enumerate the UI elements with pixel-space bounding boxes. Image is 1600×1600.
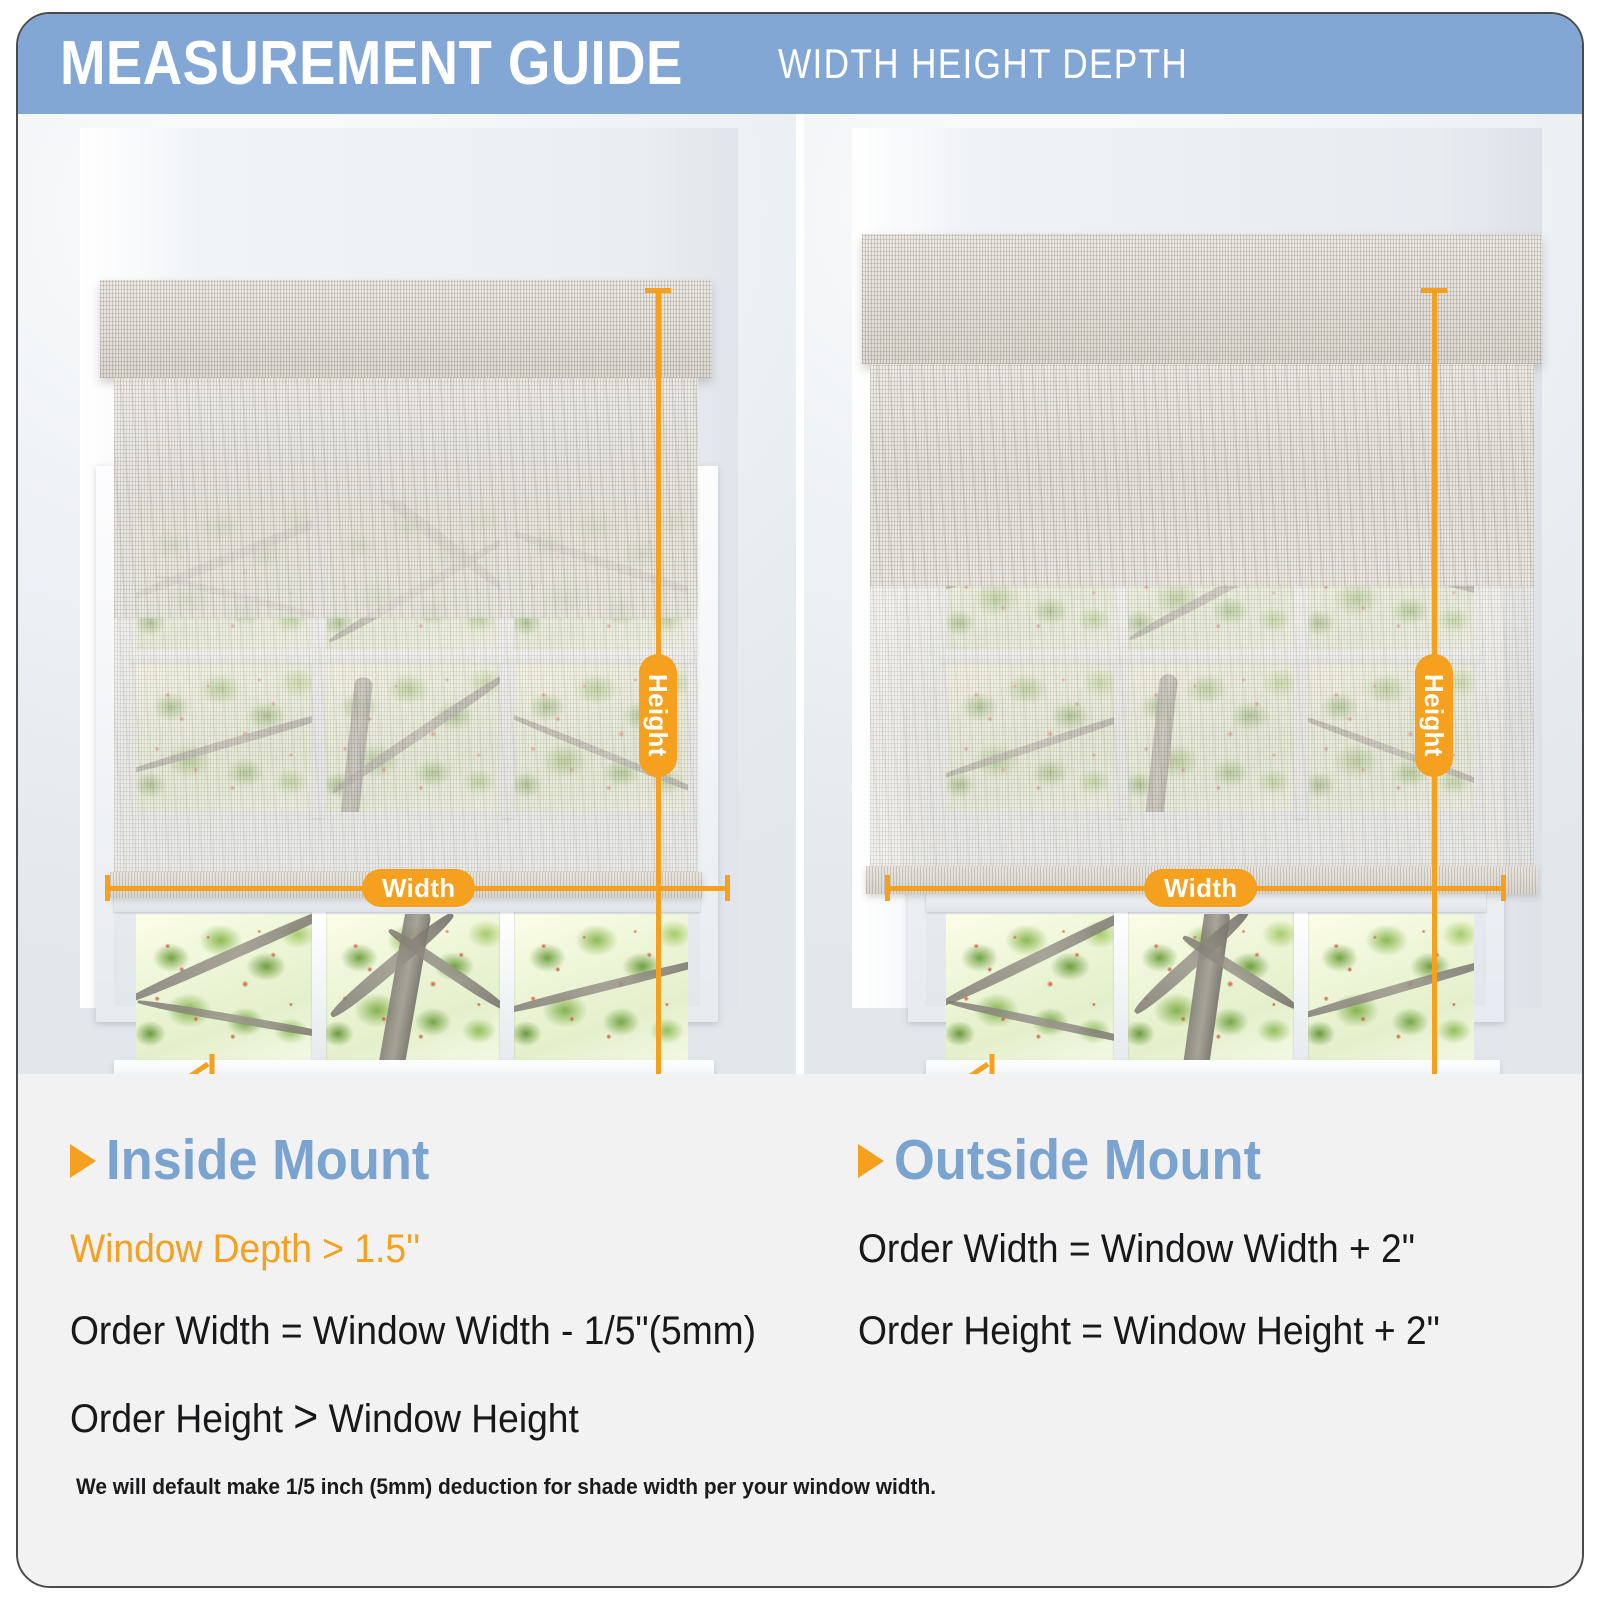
outside-mount-title: Outside Mount [894,1132,1261,1189]
height-label-text: Height [1421,674,1447,757]
depth-dimension-arrow [876,1046,1016,1074]
header-banner: MEASUREMENT GUIDE WIDTH HEIGHT DEPTH [18,14,1582,114]
inside-mount-rule-height-prefix: Order Height [70,1397,293,1441]
width-dimension-cap-left [105,875,110,901]
shade-valance [862,234,1542,364]
window-glass-lower-right [512,914,688,1060]
window-glass-lower-mid [1126,914,1294,1060]
muntin-vertical [1114,910,1128,1064]
outside-mount-illustration: Height Width Depth [804,114,1582,1074]
inside-mount-rule-height-suffix: Window Height [318,1397,579,1441]
height-label: Height [639,654,677,777]
page-title: MEASUREMENT GUIDE [60,33,683,95]
outside-mount-rule-height: Order Height = Window Height + 2" [858,1311,1509,1351]
muntin-vertical [1294,910,1308,1064]
height-label-text: Height [645,674,671,757]
window-glass-lower-left [136,914,312,1060]
inside-mount-rule-height: Order Height > Window Height [70,1393,786,1439]
inside-mount-title: Inside Mount [106,1132,429,1189]
shade-fabric-sheer-over-glass [114,618,698,880]
width-label: Width [362,869,475,907]
triangle-right-icon [858,1144,884,1178]
width-label-text: Width [382,875,455,901]
width-label: Width [1144,869,1257,907]
inside-mount-heading: Inside Mount [70,1132,840,1189]
triangle-right-icon [70,1144,96,1178]
shade-fabric [114,378,698,618]
window-glass-lower-right [1306,914,1474,1060]
width-dimension-cap-right [725,875,730,901]
outside-mount-instructions: Outside Mount Order Width = Window Width… [858,1132,1558,1393]
height-dimension-cap-top [1421,288,1447,293]
header-subtitle: WIDTH HEIGHT DEPTH [778,43,1188,85]
inside-mount-instructions: Inside Mount Window Depth > 1.5'' Order … [70,1132,840,1481]
instructions-section: Inside Mount Window Depth > 1.5'' Order … [18,1074,1582,1588]
window-glass-lower-left [946,914,1114,1060]
muntin-vertical [500,910,514,1064]
width-label-text: Width [1164,875,1237,901]
width-dimension-cap-right [1501,875,1506,901]
outside-mount-heading: Outside Mount [858,1132,1558,1189]
muntin-vertical [312,910,326,1064]
inside-mount-condition: Window Depth > 1.5'' [70,1229,786,1269]
window-glass-lower-mid [324,914,500,1060]
outside-mount-rule-width: Order Width = Window Width + 2" [858,1229,1509,1269]
height-label: Height [1415,654,1453,777]
measurement-guide-card: MEASUREMENT GUIDE WIDTH HEIGHT DEPTH [16,12,1584,1588]
shade-valance [100,280,712,378]
footnote-text: We will default make 1/5 inch (5mm) dedu… [76,1474,936,1500]
illustration-panels: Height Width Depth [18,114,1582,1074]
depth-dimension-arrow [96,1046,236,1074]
inside-mount-rule-width: Order Width = Window Width - 1/5"(5mm) [70,1311,786,1351]
greater-than-symbol: > [293,1390,318,1442]
height-dimension-cap-top [645,288,671,293]
width-dimension-cap-left [885,875,890,901]
inside-mount-illustration: Height Width Depth [18,114,796,1074]
